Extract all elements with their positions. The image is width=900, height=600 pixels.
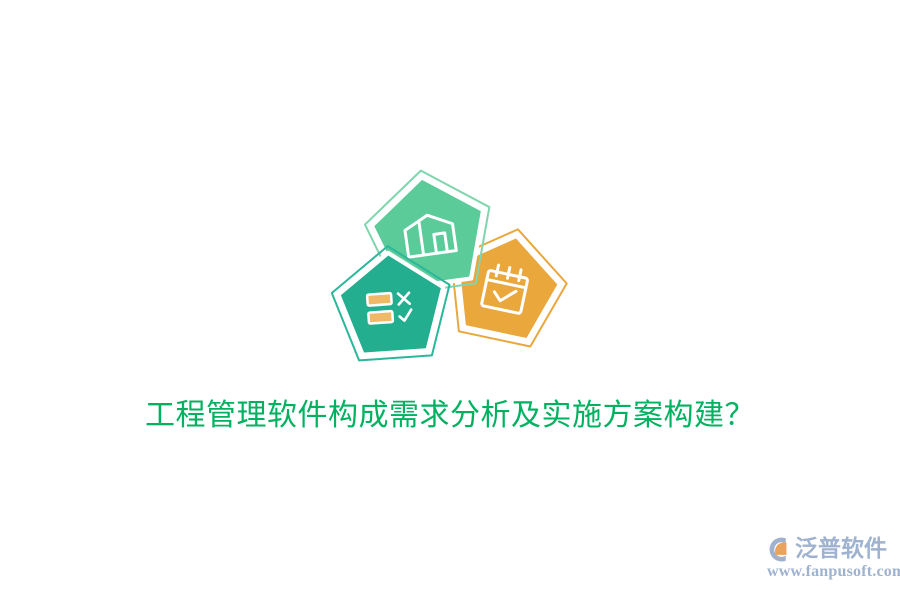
checklist-bar-1 xyxy=(367,293,392,306)
slide-canvas: 工程管理软件构成需求分析及实施方案构建？ 泛普软件 www.fanpusoft.… xyxy=(0,0,900,600)
pentagon-cluster-graphic xyxy=(320,160,585,385)
watermark-url-text: www.fanpusoft.com xyxy=(767,562,900,581)
fanpu-circle-logo-icon xyxy=(764,535,793,564)
watermark-brand-text: 泛普软件 xyxy=(795,536,887,562)
watermark: 泛普软件 www.fanpusoft.com xyxy=(764,534,894,586)
watermark-brand-row: 泛普软件 xyxy=(764,534,887,564)
checklist-bar-2 xyxy=(368,311,393,324)
page-title: 工程管理软件构成需求分析及实施方案构建？ xyxy=(0,396,900,436)
